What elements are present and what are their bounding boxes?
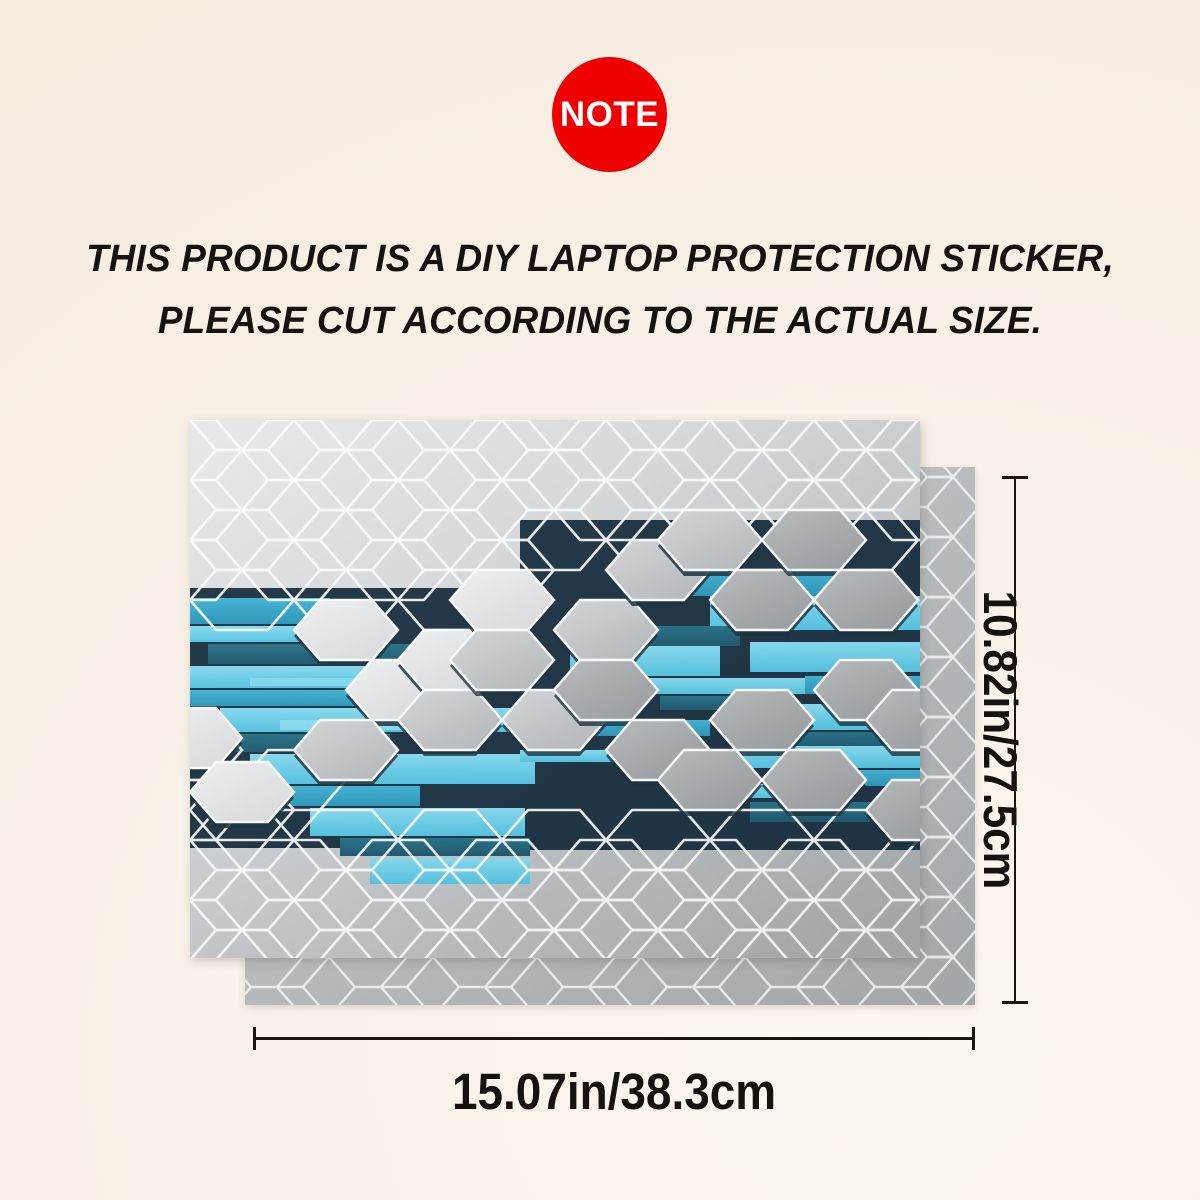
product-infographic: NOTE THIS PRODUCT IS A DIY LAPTOP PROTEC… [0,0,1200,1200]
headline-line-1: THIS PRODUCT IS A DIY LAPTOP PROTECTION … [18,228,1182,290]
page-title: THIS PRODUCT IS A DIY LAPTOP PROTECTION … [18,228,1182,352]
hexagon-artwork [190,420,920,958]
width-dimension-value: 15.07in/38.3cm [452,1062,776,1122]
sticker-sheet-front [190,420,920,958]
width-dimension-line [253,1027,975,1049]
width-dimension-label: 15.07in/38.3cm [253,1062,975,1122]
note-badge-label: NOTE [560,97,659,132]
width-dim-stroke [253,1037,975,1040]
headline-line-2: PLEASE CUT ACCORDING TO THE ACTUAL SIZE. [18,290,1182,352]
height-dimension-value: 10.82in/27.5cm [970,591,1030,890]
note-badge: NOTE [552,57,667,172]
height-dim-cap-bottom [1002,1001,1028,1004]
sticker-sheets [190,420,980,1010]
width-dim-cap-right [972,1027,975,1050]
height-dimension-label: 10.82in/27.5cm [970,480,1030,1000]
